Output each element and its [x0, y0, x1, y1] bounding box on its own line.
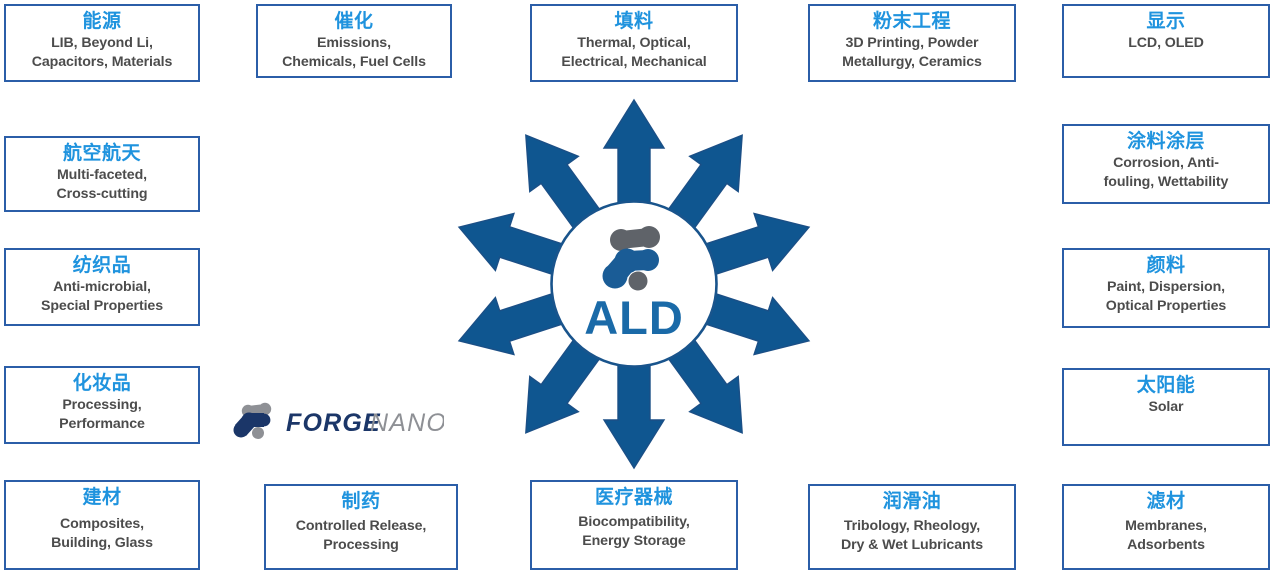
category-description-line: Performance: [59, 415, 145, 433]
category-description-line: Emissions,: [282, 34, 426, 52]
category-description-line: Multi-faceted,: [57, 166, 148, 184]
category-description: Thermal, Optical, Electrical, Mechanical: [561, 34, 706, 70]
category-description-line: Paint, Dispersion,: [1106, 278, 1226, 296]
category-title: 纺织品: [73, 255, 132, 277]
category-box-lubricants[interactable]: 润滑油 Tribology, Rheology, Dry & Wet Lubri…: [808, 484, 1016, 570]
category-title: 建材: [82, 487, 121, 509]
category-description: Composites, Building, Glass: [51, 515, 153, 551]
category-box-pigments[interactable]: 颜料 Paint, Dispersion, Optical Properties: [1062, 248, 1270, 328]
category-title: 能源: [82, 11, 121, 33]
category-description-line: Corrosion, Anti-: [1104, 154, 1229, 172]
category-title: 颜料: [1146, 255, 1185, 277]
radiating-arrow-icon: [604, 100, 664, 214]
category-box-textiles[interactable]: 纺织品 Anti-microbial, Special Properties: [4, 248, 200, 326]
category-description: Emissions, Chemicals, Fuel Cells: [282, 34, 426, 70]
category-description-line: Dry & Wet Lubricants: [841, 536, 983, 554]
category-title: 航空航天: [63, 143, 141, 165]
category-box-catalysis[interactable]: 催化 Emissions, Chemicals, Fuel Cells: [256, 4, 452, 78]
category-description: Controlled Release, Processing: [296, 517, 427, 553]
category-description-line: Capacitors, Materials: [32, 53, 173, 71]
category-description: Paint, Dispersion, Optical Properties: [1106, 278, 1226, 314]
category-description: Corrosion, Anti- fouling, Wettability: [1104, 154, 1229, 190]
category-description-line: Adsorbents: [1125, 536, 1207, 554]
category-description-line: Thermal, Optical,: [561, 34, 706, 52]
category-title: 填料: [614, 11, 653, 33]
category-box-display[interactable]: 显示 LCD, OLED: [1062, 4, 1270, 78]
category-description: 3D Printing, Powder Metallurgy, Ceramics: [842, 34, 982, 70]
category-description-line: Electrical, Mechanical: [561, 53, 706, 71]
category-description-line: Energy Storage: [578, 532, 690, 550]
category-description-line: Controlled Release,: [296, 517, 427, 535]
category-description-line: Membranes,: [1125, 517, 1207, 535]
category-box-coatings[interactable]: 涂料涂层 Corrosion, Anti- fouling, Wettabili…: [1062, 124, 1270, 204]
category-title: 粉末工程: [873, 11, 951, 33]
category-box-powder-engineering[interactable]: 粉末工程 3D Printing, Powder Metallurgy, Cer…: [808, 4, 1016, 82]
category-description-line: fouling, Wettability: [1104, 173, 1229, 191]
category-description-line: Processing: [296, 536, 427, 554]
category-box-pharmaceuticals[interactable]: 制药 Controlled Release, Processing: [264, 484, 458, 570]
category-title: 涂料涂层: [1127, 131, 1205, 153]
ald-center-hub: ALD: [448, 98, 820, 470]
category-description: Membranes, Adsorbents: [1125, 517, 1207, 553]
brand-name-primary: FORGE: [286, 409, 381, 437]
category-title: 医疗器械: [595, 487, 673, 509]
category-box-cosmetics[interactable]: 化妆品 Processing, Performance: [4, 366, 200, 444]
category-description-line: Optical Properties: [1106, 297, 1226, 315]
category-description: LCD, OLED: [1128, 34, 1204, 52]
category-description: Biocompatibility, Energy Storage: [578, 513, 690, 549]
category-box-filtration[interactable]: 滤材 Membranes, Adsorbents: [1062, 484, 1270, 570]
category-title: 显示: [1146, 11, 1185, 33]
category-description: Solar: [1149, 398, 1184, 416]
category-box-aerospace[interactable]: 航空航天 Multi-faceted, Cross-cutting: [4, 136, 200, 212]
category-description-line: LIB, Beyond Li,: [32, 34, 173, 52]
category-description-line: Building, Glass: [51, 534, 153, 552]
category-description-line: Anti-microbial,: [41, 278, 163, 296]
category-description-line: Special Properties: [41, 297, 163, 315]
category-box-medical-devices[interactable]: 医疗器械 Biocompatibility, Energy Storage: [530, 480, 738, 570]
category-description-line: Processing,: [59, 396, 145, 414]
category-description-line: Chemicals, Fuel Cells: [282, 53, 426, 71]
radiating-arrow-icon: [604, 354, 664, 468]
category-description: Processing, Performance: [59, 396, 145, 432]
category-box-energy[interactable]: 能源 LIB, Beyond Li, Capacitors, Materials: [4, 4, 200, 82]
category-box-fillers[interactable]: 填料 Thermal, Optical, Electrical, Mechani…: [530, 4, 738, 82]
category-title: 催化: [334, 11, 373, 33]
category-title: 太阳能: [1137, 375, 1196, 397]
category-description-line: Cross-cutting: [57, 185, 148, 203]
category-box-solar[interactable]: 太阳能 Solar: [1062, 368, 1270, 446]
category-description: Anti-microbial, Special Properties: [41, 278, 163, 314]
forge-nano-logo[interactable]: FORGE NANO: [228, 398, 444, 452]
category-description: LIB, Beyond Li, Capacitors, Materials: [32, 34, 173, 70]
category-description-line: Metallurgy, Ceramics: [842, 53, 982, 71]
ald-label: ALD: [584, 291, 684, 344]
category-description-line: Solar: [1149, 398, 1184, 416]
category-description: Tribology, Rheology, Dry & Wet Lubricant…: [841, 517, 983, 553]
category-title: 滤材: [1146, 491, 1185, 513]
forge-nano-molecule-icon: [234, 403, 272, 439]
category-box-construction-materials[interactable]: 建材 Composites, Building, Glass: [4, 480, 200, 570]
category-description-line: Tribology, Rheology,: [841, 517, 983, 535]
brand-name-secondary: NANO: [370, 409, 444, 437]
category-title: 润滑油: [883, 491, 942, 513]
category-title: 制药: [341, 491, 380, 513]
category-description: Multi-faceted, Cross-cutting: [57, 166, 148, 202]
category-description-line: 3D Printing, Powder: [842, 34, 982, 52]
category-description-line: Composites,: [51, 515, 153, 533]
category-title: 化妆品: [73, 373, 132, 395]
category-description-line: Biocompatibility,: [578, 513, 690, 531]
category-description-line: LCD, OLED: [1128, 34, 1204, 52]
